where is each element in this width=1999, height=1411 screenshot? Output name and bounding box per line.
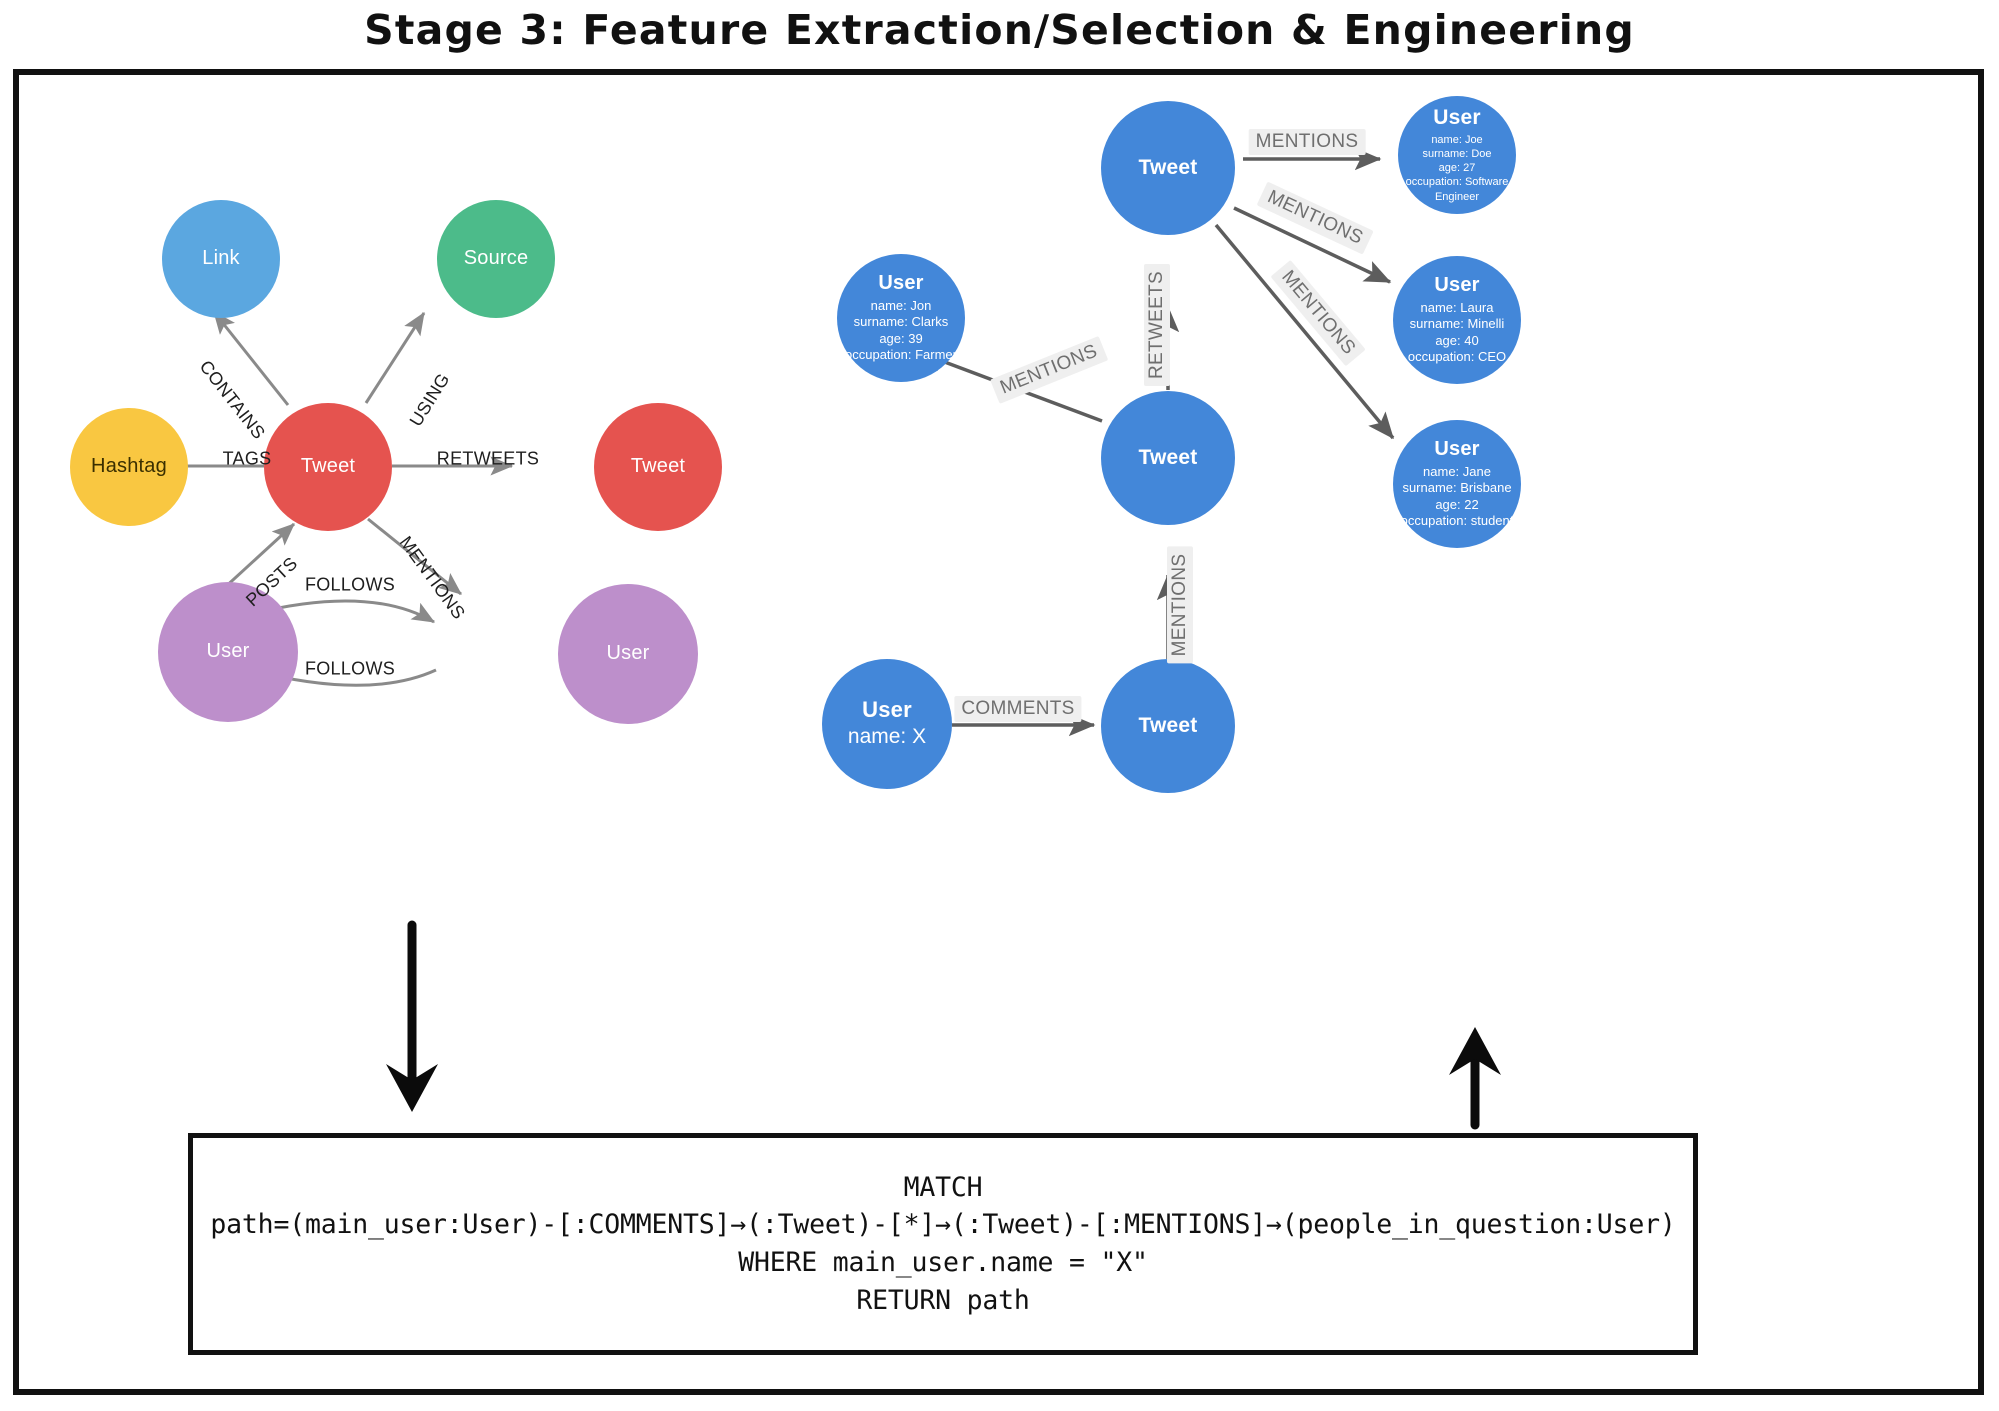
diagram-canvas: Stage 3: Feature Extraction/Selection & … (0, 0, 1999, 1411)
prop-age: age: 22 (1435, 497, 1478, 512)
edge-label-mentions-joe: MENTIONS (1249, 129, 1366, 155)
node-link-label: Link (202, 247, 240, 271)
node-user-joe-label: User (1433, 106, 1481, 131)
node-tweet-retweeted[interactable]: Tweet (594, 403, 722, 531)
prop-surname: surname: Doe (1422, 148, 1491, 160)
node-tweet-mid-label: Tweet (1139, 446, 1198, 471)
node-user-x-prop-name: name: X (844, 724, 930, 751)
node-tweet-top[interactable]: Tweet (1101, 101, 1235, 235)
node-user-joe[interactable]: User name: Joe surname: Doe age: 27 occu… (1398, 96, 1516, 214)
node-user-laura-properties: name: Laura surname: Minelli age: 40 occ… (1404, 300, 1510, 367)
prop-age: age: 40 (1435, 333, 1478, 348)
node-source[interactable]: Source (437, 200, 555, 318)
node-tweet-bottom-label: Tweet (1139, 714, 1198, 739)
node-tweet-center[interactable]: Tweet (264, 403, 392, 531)
node-user-jon-properties: name: Jon surname: Clarks age: 39 occupa… (841, 298, 961, 365)
node-user-right[interactable]: User (558, 584, 698, 724)
node-link[interactable]: Link (162, 200, 280, 318)
node-user-laura-label: User (1434, 274, 1479, 298)
node-tweet-bottom[interactable]: Tweet (1101, 659, 1235, 793)
prop-name: name: Joe (1431, 134, 1482, 146)
node-user-right-label: User (606, 642, 649, 666)
edge-label-mentions-vertical: MENTIONS (1167, 547, 1193, 664)
node-user-x[interactable]: User name: X (822, 659, 952, 789)
edge-label-retweets: RETWEETS (437, 449, 539, 470)
prop-age: age: 39 (879, 331, 922, 346)
prop-name: name: Laura (1421, 300, 1494, 315)
node-user-jane-properties: name: Jane surname: Brisbane age: 22 occ… (1397, 464, 1518, 531)
prop-surname: surname: Brisbane (1402, 480, 1511, 495)
edge-label-retweets-vertical: RETWEETS (1144, 264, 1170, 386)
node-tweet-retweeted-label: Tweet (631, 455, 685, 479)
node-user-jon-label: User (878, 272, 923, 296)
prop-occupation: occupation: Software Engineer (1406, 176, 1509, 202)
prop-occupation: occupation: student (1401, 513, 1514, 528)
prop-name: name: Jon (871, 298, 932, 313)
cypher-query-text: MATCH path=(main_user:User)-[:COMMENTS]→… (210, 1169, 1675, 1320)
edge-label-follows-backward: FOLLOWS (305, 659, 395, 680)
node-hashtag-label: Hashtag (91, 455, 167, 479)
cypher-query-box: MATCH path=(main_user:User)-[:COMMENTS]→… (188, 1133, 1698, 1355)
node-hashtag[interactable]: Hashtag (70, 408, 188, 526)
node-tweet-center-label: Tweet (301, 455, 355, 479)
node-tweet-top-label: Tweet (1139, 156, 1198, 181)
prop-surname: surname: Minelli (1410, 316, 1505, 331)
prop-occupation: occupation: Farmer (845, 347, 957, 362)
node-user-jon[interactable]: User name: Jon surname: Clarks age: 39 o… (837, 254, 965, 382)
node-user-joe-properties: name: Joe surname: Doe age: 27 occupatio… (1398, 133, 1516, 203)
node-source-label: Source (464, 247, 529, 271)
node-user-jane[interactable]: User name: Jane surname: Brisbane age: 2… (1393, 420, 1521, 548)
node-user-left[interactable]: User (158, 582, 298, 722)
node-user-x-label: User (862, 697, 912, 723)
node-user-left-label: User (206, 640, 249, 664)
prop-surname: surname: Clarks (854, 314, 949, 329)
edge-label-tags: TAGS (223, 449, 272, 470)
node-user-jane-label: User (1434, 438, 1479, 462)
node-user-laura[interactable]: User name: Laura surname: Minelli age: 4… (1393, 256, 1521, 384)
edge-label-comments: COMMENTS (954, 696, 1081, 722)
prop-name: name: Jane (1423, 464, 1491, 479)
node-tweet-mid[interactable]: Tweet (1101, 391, 1235, 525)
prop-occupation: occupation: CEO (1408, 349, 1506, 364)
prop-age: age: 27 (1439, 162, 1476, 174)
page-title: Stage 3: Feature Extraction/Selection & … (0, 6, 1999, 54)
edge-label-follows-forward: FOLLOWS (305, 575, 395, 596)
